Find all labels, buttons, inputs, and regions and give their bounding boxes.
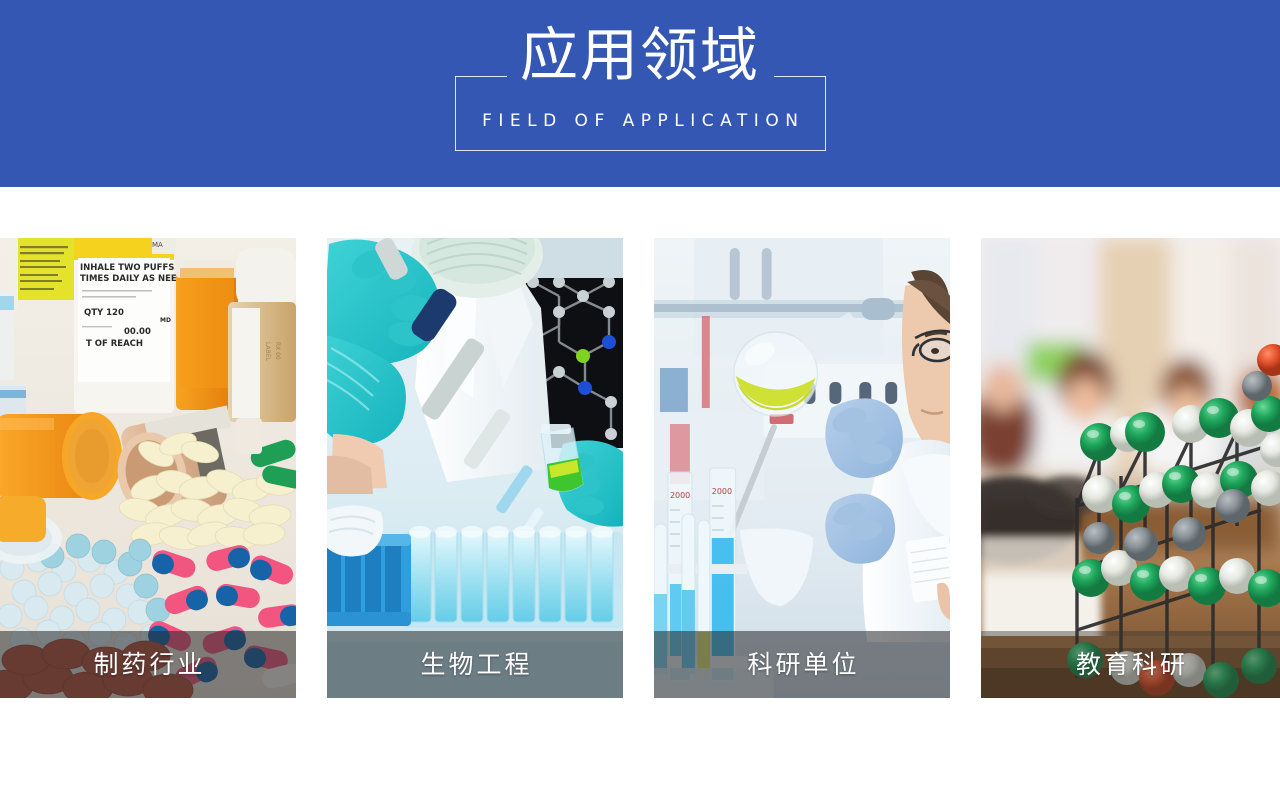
svg-text:QTY 120: QTY 120: [84, 308, 124, 318]
card-caption-bar: 生物工程: [327, 631, 623, 698]
page-banner: 应用领域 FIELD OF APPLICATION: [0, 0, 1280, 187]
page-subtitle: FIELD OF APPLICATION: [0, 110, 1280, 132]
svg-text:LABEL: LABEL: [264, 342, 271, 361]
frame-bottom-line: [455, 150, 826, 151]
scientist-pipetting-with-teal-gloves-photo: [327, 238, 623, 698]
card-caption-label: 生物工程: [417, 650, 532, 680]
card-caption-label: 科研单位: [744, 650, 859, 680]
application-card-row: INHALE TWO PUFFS TIMES DAILY AS NEEDED Q…: [0, 238, 1280, 698]
svg-text:2000: 2000: [712, 487, 732, 496]
application-fields-page: 应用领域 FIELD OF APPLICATION: [0, 0, 1280, 785]
application-card-pharmaceutical[interactable]: INHALE TWO PUFFS TIMES DAILY AS NEEDED Q…: [0, 238, 296, 698]
application-card-research-institute[interactable]: 20002000: [654, 238, 950, 698]
svg-text:MD: MD: [160, 317, 171, 324]
application-card-education-research[interactable]: 教育科研: [981, 238, 1280, 698]
page-title: 应用领域: [0, 22, 1280, 88]
svg-text:00.00: 00.00: [124, 327, 151, 337]
svg-text:2000: 2000: [670, 491, 690, 500]
card-caption-bar: 制药行业: [0, 631, 296, 698]
card-caption-bar: 科研单位: [654, 631, 950, 698]
pill-bottles-and-tablets-photo: INHALE TWO PUFFS TIMES DAILY AS NEEDED Q…: [0, 238, 296, 698]
svg-text:MA: MA: [152, 241, 163, 249]
researcher-holding-flask-photo: 20002000: [654, 238, 950, 698]
card-caption-label: 制药行业: [90, 650, 205, 680]
svg-text:T OF REACH: T OF REACH: [86, 339, 143, 349]
card-caption-bar: 教育科研: [981, 631, 1280, 698]
molecular-lattice-model-classroom-photo: [981, 238, 1280, 698]
application-card-bioengineering[interactable]: 生物工程: [327, 238, 623, 698]
card-caption-label: 教育科研: [1073, 650, 1188, 680]
svg-text:RX 00: RX 00: [274, 342, 281, 360]
svg-text:INHALE TWO PUFFS: INHALE TWO PUFFS: [80, 263, 174, 273]
